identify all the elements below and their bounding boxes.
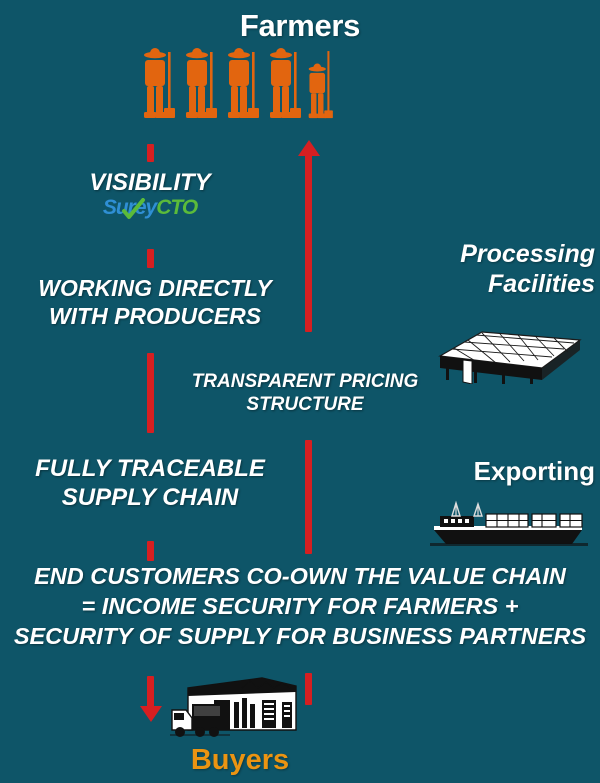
label-processing-line2: Facilities xyxy=(410,270,595,300)
summary-message: END CUSTOMERS CO-OWN THE VALUE CHAIN = I… xyxy=(6,562,594,652)
logo-text-cto: CTO xyxy=(156,196,197,219)
connector-dash-right-2 xyxy=(305,673,312,705)
farmers-group-icon xyxy=(138,46,348,126)
label-exporting: Exporting xyxy=(400,456,595,487)
greenhouse-facility-icon xyxy=(430,322,585,389)
connector-arrow-up-shaft xyxy=(305,155,312,332)
label-transparent-line2: STRUCTURE xyxy=(160,393,450,416)
arrow-up-icon xyxy=(298,140,320,156)
label-transparent-line1: TRANSPARENT PRICING xyxy=(160,370,450,393)
container-ship-icon xyxy=(430,498,590,555)
label-working-line1: WORKING DIRECTLY xyxy=(10,274,300,302)
label-working-line2: WITH PRODUCERS xyxy=(10,302,300,330)
connector-dash-left-2 xyxy=(147,249,154,268)
summary-line3: SECURITY OF SUPPLY FOR BUSINESS PARTNERS xyxy=(6,622,594,652)
connector-dash-left-3 xyxy=(147,353,154,433)
connector-arrow-down-shaft xyxy=(147,676,154,708)
page-title-farmers: Farmers xyxy=(0,8,600,44)
value-chain-diagram: Farmers xyxy=(0,0,600,783)
label-traceable-line2: SUPPLY CHAIN xyxy=(10,483,290,512)
label-fully-traceable: FULLY TRACEABLE SUPPLY CHAIN xyxy=(10,454,290,513)
connector-dash-left-1 xyxy=(147,144,154,162)
summary-line1: END CUSTOMERS CO-OWN THE VALUE CHAIN xyxy=(6,562,594,592)
label-traceable-line1: FULLY TRACEABLE xyxy=(10,454,290,483)
label-visibility: VISIBILITY xyxy=(20,168,280,197)
connector-dash-left-4 xyxy=(147,541,154,561)
label-working-directly: WORKING DIRECTLY WITH PRODUCERS xyxy=(10,274,300,330)
summary-line2: = INCOME SECURITY FOR FARMERS + xyxy=(6,592,594,622)
connector-dash-right-1 xyxy=(305,440,312,554)
surveycto-logo: SureyCTO xyxy=(20,196,280,220)
page-title-buyers: Buyers xyxy=(140,744,340,777)
label-processing-line1: Processing xyxy=(410,240,595,270)
arrow-down-icon xyxy=(140,706,162,722)
label-transparent-pricing: TRANSPARENT PRICING STRUCTURE xyxy=(160,370,450,416)
warehouse-truck-icon xyxy=(170,672,300,745)
label-processing-facilities: Processing Facilities xyxy=(410,240,595,299)
